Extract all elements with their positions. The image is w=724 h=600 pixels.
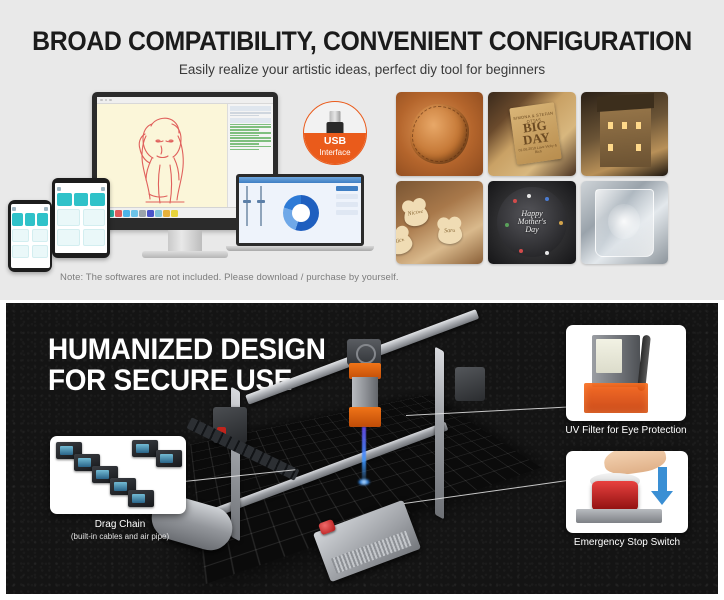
house-roof (597, 93, 654, 112)
laser-head (341, 339, 387, 435)
usb-badge-label: USB (304, 136, 366, 147)
laser-body (352, 377, 378, 409)
lit-window-icon (636, 122, 641, 129)
design-canvas (97, 104, 227, 207)
laptop-device (236, 174, 364, 246)
app-button-grid[interactable] (57, 209, 105, 246)
panel-row (230, 132, 271, 134)
progress-donut-chart (283, 195, 319, 231)
down-arrow-icon (658, 467, 667, 493)
app-tile[interactable] (74, 193, 89, 206)
right-rail (435, 347, 444, 520)
software-titlebar (97, 97, 273, 104)
page-title: BROAD COMPATIBILITY, CONVENIENT CONFIGUR… (29, 26, 695, 57)
right-stepper-motor (455, 367, 485, 401)
app-tile[interactable] (37, 213, 48, 226)
menu-icon[interactable] (12, 207, 16, 211)
sample-wood-box: SIMONA & STEFAN OTTAS BIG DAY 01.08.2019… (488, 92, 575, 176)
sample-slate-coaster: Happy Mother's Day (488, 181, 575, 265)
toolbar-door-icon[interactable] (163, 210, 170, 217)
usb-badge-sublabel: Interface (304, 149, 366, 157)
app-button-grid[interactable] (57, 193, 105, 206)
toolbar-brightness-icon[interactable] (123, 210, 130, 217)
panel-row (230, 115, 259, 117)
app-tile[interactable] (90, 193, 105, 206)
flower-icon (545, 251, 549, 255)
panel-row (230, 135, 259, 137)
module-label (596, 339, 622, 373)
panel-row (230, 143, 259, 145)
toolbar-vector-icon[interactable] (147, 210, 154, 217)
heart-tag: Nicole (402, 202, 430, 228)
uv-filter-photo (566, 325, 686, 421)
flower-icon (527, 194, 531, 198)
uv-filter-shroud (349, 407, 381, 427)
speed-slider[interactable] (256, 186, 266, 226)
app-tile[interactable] (57, 193, 72, 206)
lit-window-icon (636, 144, 641, 151)
panel-row (230, 112, 271, 114)
chain-link (132, 440, 158, 457)
panel-row (230, 149, 259, 151)
panel-row (230, 124, 271, 126)
dashboard-body (239, 183, 361, 243)
app-tile-move[interactable] (12, 229, 29, 242)
callout-uv-filter: UV Filter for Eye Protection (546, 425, 706, 438)
lit-window-icon (608, 122, 613, 129)
laser-focus-point (358, 479, 370, 485)
app-header (12, 206, 48, 211)
sample-led-house (581, 92, 668, 176)
callout-drag-chain: Drag Chain (built-in cables and air pipe… (32, 519, 208, 542)
flower-icon (513, 199, 517, 203)
option-button[interactable] (336, 194, 358, 199)
down-arrow-head-icon (651, 491, 673, 505)
app-tile-preview[interactable] (57, 229, 80, 246)
leather-body (410, 104, 469, 164)
app-tile-preview[interactable] (12, 245, 29, 258)
engraved-wood-panel: SIMONA & STEFAN OTTAS BIG DAY 01.08.2019… (509, 102, 562, 165)
red-stop-button[interactable] (592, 481, 638, 511)
menu-icon[interactable] (57, 187, 61, 191)
sample-engraved-glass (581, 181, 668, 265)
tablet-screen (55, 183, 107, 253)
panel-header (230, 118, 271, 123)
app-tile-move[interactable] (57, 209, 80, 226)
cooling-fan-icon (347, 339, 381, 365)
emergency-stop-photo (566, 451, 688, 533)
orange-uv-shroud (584, 383, 648, 413)
slider-group[interactable] (242, 186, 266, 240)
toolbar-dither-icon[interactable] (139, 210, 146, 217)
anime-lineart-icon (116, 108, 208, 207)
action-button-column[interactable] (336, 186, 358, 240)
button-mount-plate (576, 509, 662, 523)
heart-name: Sara (438, 227, 462, 235)
laptop-screen (239, 177, 361, 243)
panel-row (230, 126, 271, 128)
settings-icon[interactable] (101, 187, 105, 191)
slate-line-3: Day (525, 225, 538, 234)
heart-name: Rick (396, 234, 412, 247)
stitching (412, 106, 467, 162)
monitor-stand (168, 230, 202, 252)
phone-device (8, 200, 52, 272)
app-tile-gallery[interactable] (32, 245, 49, 258)
slate-disc: Happy Mother's Day (497, 187, 567, 257)
app-header (57, 186, 105, 191)
laptop-base (226, 246, 374, 251)
page-subtitle: Easily realize your artistic ideas, perf… (0, 62, 724, 77)
option-button[interactable] (336, 202, 358, 207)
usb-interface-badge: USB Interface (303, 101, 367, 165)
laser-engraver (191, 333, 521, 578)
app-button-grid[interactable] (12, 229, 48, 258)
app-tile-rotate[interactable] (83, 209, 106, 226)
drag-chain-photo (50, 436, 186, 514)
compatibility-section: BROAD COMPATIBILITY, CONVENIENT CONFIGUR… (0, 0, 724, 300)
callout-label: Emergency Stop Switch (574, 537, 680, 548)
panel-row (230, 129, 259, 131)
callout-sublabel: (built-in cables and air pipe) (32, 532, 208, 542)
lit-window-icon (608, 144, 613, 151)
lit-window-icon (622, 122, 627, 129)
option-button[interactable] (336, 210, 358, 215)
callout-label: UV Filter for Eye Protection (565, 425, 686, 436)
power-slider[interactable] (242, 186, 252, 226)
settings-icon[interactable] (44, 207, 48, 211)
app-tile-gallery[interactable] (83, 229, 106, 246)
chain-link (156, 450, 182, 467)
toolbar-bulb-icon[interactable] (171, 210, 178, 217)
chart-area (269, 186, 333, 240)
phone-screen (11, 204, 50, 268)
tablet-device (52, 178, 110, 258)
panel-row (230, 146, 271, 148)
wooden-house-model (600, 100, 651, 167)
sample-wood-hearts: Nicole Sara Rick (396, 181, 483, 265)
laser-beam (362, 427, 366, 483)
toolbar-shape-icon[interactable] (155, 210, 162, 217)
window-dot-icon (100, 99, 103, 102)
app-button-grid[interactable] (12, 213, 48, 226)
laptop-bezel (236, 174, 364, 246)
product-infographic: BROAD COMPATIBILITY, CONVENIENT CONFIGUR… (0, 0, 724, 600)
flower-icon (545, 197, 549, 201)
callout-emergency-stop: Emergency Stop Switch (546, 537, 708, 550)
software-note: Note: The softwares are not included. Pl… (60, 272, 399, 283)
panel-row (230, 137, 271, 139)
panel-row (230, 140, 271, 142)
sample-leather-pouch (396, 92, 483, 176)
panel-header (230, 106, 271, 111)
window-dot-icon (109, 99, 112, 102)
app-tile[interactable] (25, 213, 36, 226)
heart-tag: Rick (396, 229, 415, 256)
vent-grille (331, 531, 412, 574)
app-tile[interactable] (12, 213, 23, 226)
toolbar-contrast-icon[interactable] (131, 210, 138, 217)
heart-tag: Sara (437, 222, 462, 245)
window-dot-icon (105, 99, 108, 102)
heart-name: Nicole (403, 207, 428, 218)
toolbar-image-icon[interactable] (115, 210, 122, 217)
glass-tumbler (595, 189, 654, 257)
monitor-base (142, 251, 228, 258)
sample-grid: SIMONA & STEFAN OTTAS BIG DAY 01.08.2019… (396, 92, 668, 264)
etched-artwork (608, 204, 640, 239)
app-tile-rotate[interactable] (32, 229, 49, 242)
callout-label: Drag Chain (95, 519, 146, 530)
chain-link (128, 490, 154, 507)
secure-design-section: HUMANIZED DESIGN FOR SECURE USE (6, 303, 718, 594)
start-button[interactable] (336, 186, 358, 191)
flower-icon (519, 249, 523, 253)
